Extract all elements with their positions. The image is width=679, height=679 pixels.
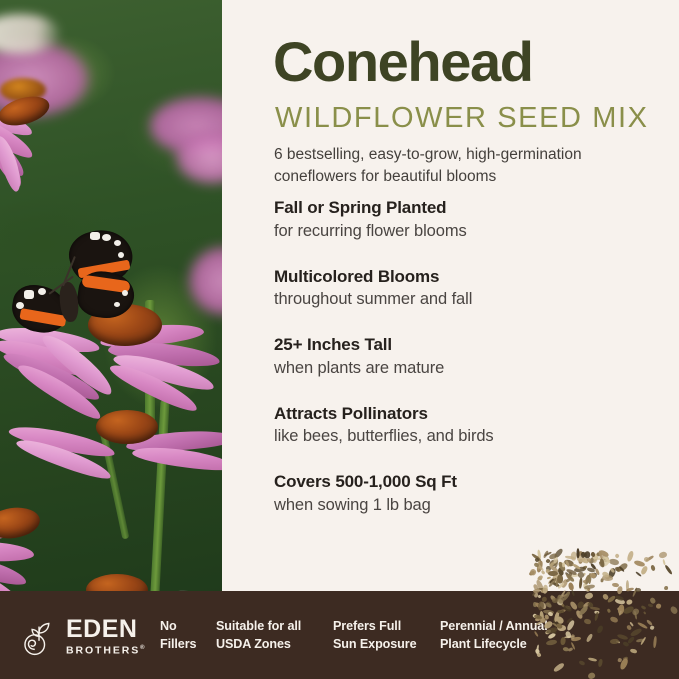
seed bbox=[561, 563, 565, 568]
seed bbox=[614, 566, 619, 571]
logo-eden-text: EDEN bbox=[66, 617, 146, 642]
badge-sun-exposure: Prefers Full Sun Exposure bbox=[333, 618, 416, 654]
feature-list: Fall or Spring Planted for recurring flo… bbox=[274, 197, 674, 517]
butterfly-white-spot bbox=[24, 290, 34, 299]
wildflower-seed-pile bbox=[519, 539, 679, 679]
seed bbox=[641, 605, 647, 610]
tagline: 6 bestselling, easy-to-grow, high-germin… bbox=[274, 144, 654, 188]
eden-brothers-logo: EDEN BROTHERS® bbox=[22, 617, 146, 656]
feature-heading: Covers 500-1,000 Sq Ft bbox=[274, 471, 674, 494]
product-infographic: Conehead WILDFLOWER SEED MIX 6 bestselli… bbox=[0, 0, 679, 679]
feature-heading: Fall or Spring Planted bbox=[274, 197, 674, 220]
seed bbox=[640, 566, 648, 576]
seed bbox=[579, 660, 586, 666]
feature-sub: like bees, butterflies, and birds bbox=[274, 425, 674, 448]
feature-item: Covers 500-1,000 Sq Ft when sowing 1 lb … bbox=[274, 471, 674, 517]
seed bbox=[538, 601, 544, 611]
butterfly-white-spot bbox=[102, 234, 111, 241]
seed bbox=[534, 648, 540, 654]
coneflower-upper-left bbox=[0, 82, 108, 202]
page-subtitle: WILDFLOWER SEED MIX bbox=[275, 104, 649, 133]
seed bbox=[662, 559, 666, 565]
seed bbox=[617, 586, 623, 594]
seed bbox=[650, 597, 657, 604]
seed bbox=[643, 556, 649, 562]
seed bbox=[579, 578, 582, 589]
seed bbox=[594, 612, 599, 621]
seed bbox=[548, 611, 554, 616]
seed bbox=[577, 572, 584, 580]
red-admiral-butterfly bbox=[18, 228, 148, 338]
butterfly-white-spot bbox=[122, 290, 128, 296]
seed bbox=[533, 631, 538, 638]
feature-item: 25+ Inches Tall when plants are mature bbox=[274, 334, 674, 380]
seed bbox=[609, 639, 618, 645]
seed bbox=[634, 560, 646, 567]
seed bbox=[557, 609, 562, 613]
seed bbox=[533, 588, 540, 593]
seed bbox=[635, 588, 641, 593]
page-title: Conehead bbox=[273, 34, 533, 90]
seed bbox=[646, 619, 653, 626]
seed bbox=[560, 637, 565, 645]
seed bbox=[609, 616, 618, 624]
seed bbox=[629, 648, 637, 654]
seed bbox=[643, 611, 647, 615]
seed bbox=[571, 590, 575, 596]
seed bbox=[577, 548, 580, 558]
seed bbox=[630, 627, 642, 637]
coneflower-butterfly-photo bbox=[0, 0, 222, 612]
feature-sub: when plants are mature bbox=[274, 357, 674, 380]
butterfly-white-spot bbox=[114, 240, 121, 246]
butterfly-white-spot bbox=[118, 252, 124, 258]
seed bbox=[584, 619, 592, 625]
seed bbox=[586, 633, 594, 643]
logo-wordmark: EDEN BROTHERS® bbox=[66, 617, 146, 656]
badge-usda-zones: Suitable for all USDA Zones bbox=[216, 618, 301, 654]
feature-sub: when sowing 1 lb bag bbox=[274, 494, 674, 517]
seed bbox=[650, 564, 656, 571]
feature-heading: 25+ Inches Tall bbox=[274, 334, 674, 357]
seed bbox=[653, 637, 657, 649]
seed bbox=[664, 586, 668, 590]
flower-cone bbox=[96, 410, 158, 444]
feature-item: Attracts Pollinators like bees, butterfl… bbox=[274, 403, 674, 449]
seed bbox=[606, 608, 610, 612]
feature-sub: throughout summer and fall bbox=[274, 288, 674, 311]
butterfly-white-spot bbox=[16, 302, 24, 309]
seed bbox=[664, 565, 673, 576]
coneflower-secondary bbox=[54, 392, 222, 512]
logo-brothers-text: BROTHERS® bbox=[66, 645, 146, 656]
butterfly-white-spot bbox=[38, 288, 46, 295]
seed bbox=[587, 672, 595, 679]
seed bbox=[669, 605, 679, 615]
feature-heading: Attracts Pollinators bbox=[274, 403, 674, 426]
badge-no-fillers: No Fillers bbox=[160, 618, 196, 654]
seed bbox=[596, 625, 604, 634]
seed bbox=[545, 639, 557, 646]
feature-sub: for recurring flower blooms bbox=[274, 220, 674, 243]
seed bbox=[614, 553, 620, 559]
seed bbox=[553, 662, 566, 674]
feature-item: Multicolored Blooms throughout summer an… bbox=[274, 266, 674, 312]
seed bbox=[590, 606, 600, 610]
feature-item: Fall or Spring Planted for recurring flo… bbox=[274, 197, 674, 243]
butterfly-white-spot bbox=[114, 302, 120, 307]
seed bbox=[626, 599, 633, 605]
seed bbox=[655, 604, 661, 610]
seed bbox=[588, 657, 597, 662]
seed bbox=[597, 659, 602, 668]
seed bbox=[584, 592, 593, 600]
seed bbox=[542, 585, 548, 594]
feature-heading: Multicolored Blooms bbox=[274, 266, 674, 289]
seed bbox=[650, 625, 655, 630]
seed-sprout-icon bbox=[22, 618, 57, 656]
seed bbox=[537, 594, 541, 598]
butterfly-white-spot bbox=[90, 232, 100, 240]
